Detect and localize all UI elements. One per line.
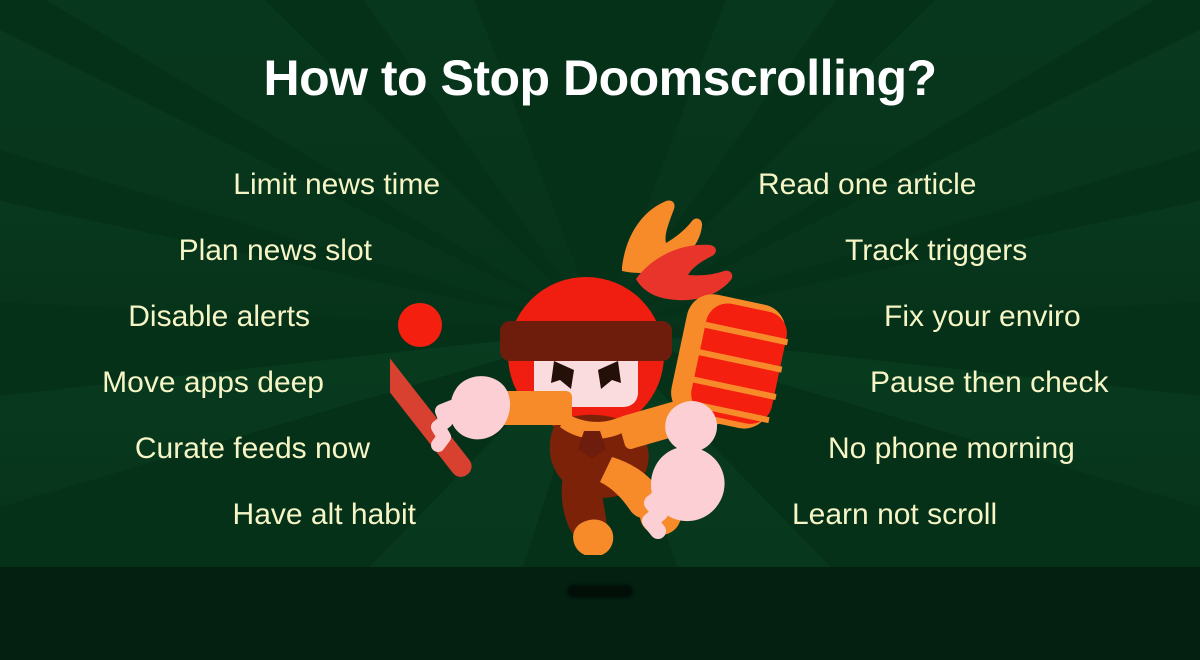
tip-item: Disable alerts <box>10 284 450 350</box>
ninja-foot-back <box>573 519 613 555</box>
device-notch <box>567 585 633 598</box>
tip-item: Learn not scroll <box>750 482 1190 548</box>
doomscrolling-poster: How to Stop Doomscrolling? Limit news ti… <box>0 0 1200 660</box>
tip-item: Move apps deep <box>10 350 450 416</box>
ninja-illustration <box>390 195 800 555</box>
ninja-fist-left-knuckles <box>438 407 452 445</box>
mallet-ball <box>398 303 442 347</box>
tip-item: Limit news time <box>10 152 450 218</box>
ninja-headband <box>500 321 672 361</box>
tip-item: No phone morning <box>750 416 1190 482</box>
tip-item: Pause then check <box>750 350 1190 416</box>
tip-item: Plan news slot <box>10 218 450 284</box>
ninja-fist-upper-right <box>665 401 717 452</box>
tip-item: Read one article <box>750 152 1190 218</box>
tips-column-right: Read one article Track triggers Fix your… <box>750 152 1190 548</box>
bottom-band <box>0 567 1200 660</box>
tip-item: Curate feeds now <box>10 416 450 482</box>
tips-column-left: Limit news time Plan news slot Disable a… <box>10 152 450 548</box>
page-title: How to Stop Doomscrolling? <box>0 48 1200 108</box>
ninja-fist-lower-knuckles <box>650 495 662 531</box>
tip-item: Have alt habit <box>10 482 450 548</box>
tip-item: Fix your enviro <box>750 284 1190 350</box>
tip-item: Track triggers <box>750 218 1190 284</box>
